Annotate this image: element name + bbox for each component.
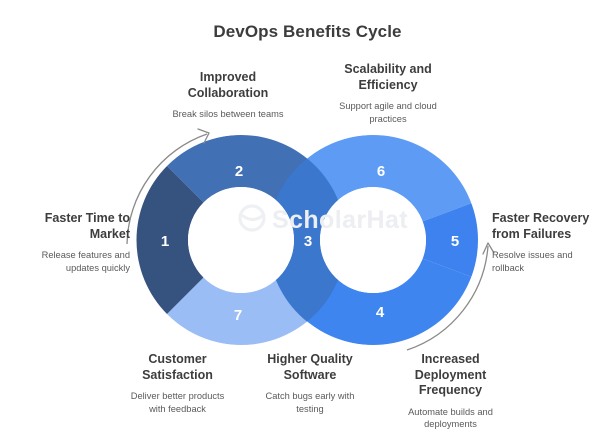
label-scalability-efficiency-title: Scalability and Efficiency bbox=[313, 62, 463, 93]
watermark-text: ScholarHat bbox=[272, 206, 408, 234]
label-faster-recovery-desc: Resolve issues and rollback bbox=[492, 249, 615, 274]
segment-number-3: 3 bbox=[304, 233, 312, 250]
infographic-canvas: DevOps Benefits Cycle bbox=[0, 0, 615, 441]
label-increased-deployment-desc: Automate builds and deployments bbox=[378, 406, 523, 431]
segment-number-5: 5 bbox=[451, 233, 459, 250]
segment-number-6: 6 bbox=[377, 163, 385, 180]
label-improved-collaboration-title: Improved Collaboration bbox=[153, 70, 303, 101]
label-customer-satisfaction-desc: Deliver better products with feedback bbox=[105, 390, 250, 415]
left-hub bbox=[188, 187, 294, 293]
label-higher-quality-software-desc: Catch bugs early with testing bbox=[240, 390, 380, 415]
label-faster-time-to-market-desc: Release features and updates quickly bbox=[6, 249, 130, 274]
label-scalability-efficiency: Scalability and Efficiency Support agile… bbox=[313, 62, 463, 125]
right-hub bbox=[320, 187, 426, 293]
label-improved-collaboration: Improved Collaboration Break silos betwe… bbox=[153, 70, 303, 121]
label-improved-collaboration-desc: Break silos between teams bbox=[153, 108, 303, 121]
label-increased-deployment-title: Increased Deployment Frequency bbox=[378, 352, 523, 399]
label-customer-satisfaction-title: Customer Satisfaction bbox=[105, 352, 250, 383]
segment-number-2: 2 bbox=[235, 163, 243, 180]
segment-number-4: 4 bbox=[376, 304, 385, 321]
label-faster-time-to-market: Faster Time to Market Release features a… bbox=[6, 211, 130, 274]
label-higher-quality-software-title: Higher Quality Software bbox=[240, 352, 380, 383]
label-faster-time-to-market-title: Faster Time to Market bbox=[6, 211, 130, 242]
label-scalability-efficiency-desc: Support agile and cloud practices bbox=[313, 100, 463, 125]
label-faster-recovery-title: Faster Recovery from Failures bbox=[492, 211, 615, 242]
label-higher-quality-software: Higher Quality Software Catch bugs early… bbox=[240, 352, 380, 415]
segment-number-1: 1 bbox=[161, 233, 169, 250]
segment-number-7: 7 bbox=[234, 307, 242, 324]
label-increased-deployment: Increased Deployment Frequency Automate … bbox=[378, 352, 523, 431]
label-faster-recovery: Faster Recovery from Failures Resolve is… bbox=[492, 211, 615, 274]
label-customer-satisfaction: Customer Satisfaction Deliver better pro… bbox=[105, 352, 250, 415]
